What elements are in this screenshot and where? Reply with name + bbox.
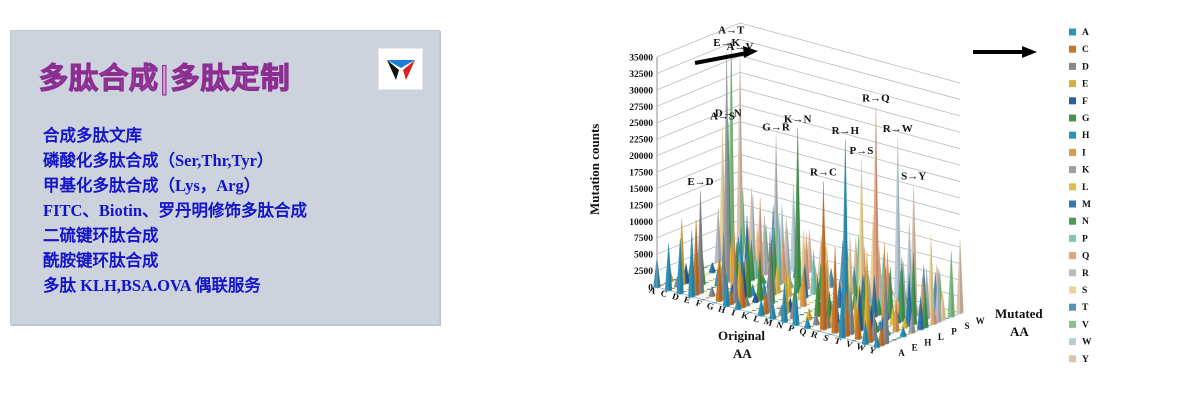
legend-swatch [1069,183,1076,190]
legend-swatch [1069,132,1076,139]
legend-item[interactable]: P [1069,234,1088,244]
service-list: 合成多肽文库 磷酸化多肽合成（Ser,Thr,Tyr） 甲基化多肽合成（Lys，… [43,123,423,298]
x-tick-label: L [752,313,761,324]
x-tick-label: Y [868,345,878,357]
legend-swatch [1069,149,1076,156]
legend-label: V [1082,320,1089,330]
x-tick-label: W [855,341,867,353]
z-tick-label: H [924,337,931,347]
legend-swatch [1069,46,1076,53]
peak-annotation: P→S [850,145,874,157]
legend-item[interactable]: I [1069,148,1086,158]
y-tick-label: 12500 [629,201,653,211]
gridline [657,39,960,99]
legend-label: E [1082,80,1088,90]
gridline [657,23,960,83]
legend-label: G [1082,114,1090,124]
logo-arrow-icon [384,54,418,84]
peak-annotation: R→C [810,167,837,179]
peak-annotation: K→N [784,113,812,125]
legend-label: K [1082,166,1090,176]
y-tick-label: 17500 [629,169,653,179]
legend-item[interactable]: Q [1069,252,1089,262]
y-tick-label: 20000 [629,152,653,162]
cone-bar [957,239,964,315]
z-tick-label: W [976,316,985,326]
peak-annotation: R→H [832,125,860,137]
page-title: 多肽合成|多肽定制 [39,55,291,97]
legend-swatch [1069,269,1076,276]
z-axis-title-line2: AA [1010,324,1029,339]
y-tick-label: 2500 [634,267,653,277]
legend-item[interactable]: T [1069,303,1089,313]
y-tick-label: 10000 [629,218,653,228]
x-axis-title-line2: AA [733,346,752,361]
x-tick-label: H [717,303,727,315]
legend-label: T [1082,303,1089,313]
x-tick-label: K [740,310,750,322]
legend-label: L [1082,183,1088,193]
z-tick-label: E [912,343,918,353]
y-axis-ticks: 3500032500300002750025000225002000017500… [629,54,653,294]
legend-item[interactable]: V [1069,320,1089,330]
legend-label: A [1082,28,1089,38]
legend-label: Y [1082,355,1089,365]
list-item: 磷酸化多肽合成（Ser,Thr,Tyr） [43,148,423,173]
legend-swatch [1069,235,1076,242]
z-tick-label: P [951,327,957,337]
legend-item[interactable]: A [1069,28,1089,38]
legend-label: W [1082,338,1092,348]
x-tick-label: S [822,332,830,343]
legend-item[interactable]: W [1069,338,1092,348]
trend-arrow-right [973,46,1037,58]
legend-label: M [1082,200,1091,210]
legend-label: D [1082,62,1089,72]
legend-item[interactable]: F [1069,97,1088,107]
legend-label: P [1082,234,1088,244]
legend-item[interactable]: N [1069,217,1089,227]
y-tick-label: 25000 [629,119,653,129]
legend-swatch [1069,287,1076,294]
legend-swatch [1069,338,1076,345]
z-tick-label: S [965,321,970,331]
legend-swatch [1069,115,1076,122]
legend-swatch [1069,321,1076,328]
legend-label: C [1082,45,1089,55]
legend-swatch [1069,201,1076,208]
legend-swatch [1069,252,1076,259]
list-item: 多肽 KLH,BSA.OVA 偶联服务 [43,273,423,298]
legend-label: F [1082,97,1088,107]
y-tick-label: 7500 [634,234,653,244]
x-tick-label: N [775,319,785,331]
y-axis-label: Mutation counts [587,124,602,215]
legend-label: S [1082,286,1087,296]
promo-panel: 多肽合成|多肽定制 合成多肽文库 磷酸化多肽合成（Ser,Thr,Tyr） 甲基… [10,30,440,325]
legend-label: I [1082,148,1086,158]
list-item: FITC、Biotin、罗丹明修饰多肽合成 [43,198,423,223]
peak-annotation: R→Q [862,93,890,105]
peak-annotation: R→W [883,123,913,135]
list-item: 二硫键环肽合成 [43,223,423,248]
legend-swatch [1069,355,1076,362]
x-tick-label: D [671,291,681,303]
peak-annotation: A→S [710,110,735,122]
legend-swatch [1069,166,1076,173]
x-tick-label: I [730,307,737,318]
legend-item[interactable]: Y [1069,355,1089,365]
peak-annotation: E→D [687,176,713,188]
chart-legend: ACDEFGHIKLMNPQRSTVWY [1069,28,1092,365]
list-item: 合成多肽文库 [43,123,423,148]
peak-annotation: S→Y [901,170,926,182]
legend-item[interactable]: S [1069,286,1087,296]
y-tick-label: 35000 [629,54,653,64]
legend-swatch [1069,29,1076,36]
company-logo [378,48,423,90]
legend-item[interactable]: L [1069,183,1088,193]
legend-label: H [1082,131,1090,141]
x-tick-label: P [787,323,796,334]
legend-item[interactable]: R [1069,269,1089,279]
x-tick-label: T [833,335,842,346]
chart-svg: 3500032500300002750025000225002000017500… [585,0,1200,400]
z-tick-label: A [898,348,905,358]
legend-label: N [1082,217,1089,227]
x-axis-title-line1: Original [718,328,765,343]
legend-item[interactable]: H [1069,131,1090,141]
x-tick-label: G [705,300,715,312]
peak-annotation: A→T [718,25,745,37]
z-tick-label: L [938,332,944,342]
legend-swatch [1069,80,1076,87]
list-item: 酰胺键环肽合成 [43,248,423,273]
y-tick-label: 32500 [629,70,653,80]
x-tick-label: R [810,329,820,341]
y-tick-label: 15000 [629,185,653,195]
legend-item[interactable]: C [1069,45,1089,55]
x-tick-label: C [659,288,668,300]
x-tick-label: Q [798,326,808,338]
gridline [657,56,960,116]
legend-item[interactable]: K [1069,166,1090,176]
mutation-counts-3d-chart: 3500032500300002750025000225002000017500… [585,0,1200,400]
y-tick-label: 27500 [629,103,653,113]
y-tick-label: 5000 [634,251,653,261]
legend-item[interactable]: G [1069,114,1090,124]
y-tick-label: 22500 [629,136,653,146]
legend-item[interactable]: D [1069,62,1089,72]
peak-annotation: A→V [727,41,754,53]
legend-swatch [1069,97,1076,104]
x-tick-label: M [763,316,775,328]
x-tick-label: V [845,338,855,350]
gridline [657,138,960,198]
legend-swatch [1069,218,1076,225]
x-tick-label: F [695,297,704,308]
legend-swatch [1069,63,1076,70]
x-tick-label: E [683,294,692,305]
legend-item[interactable]: E [1069,80,1088,90]
legend-item[interactable]: M [1069,200,1091,210]
y-tick-label: 30000 [629,86,653,96]
z-axis-title-line1: Mutated [995,306,1043,321]
legend-label: R [1082,269,1089,279]
legend-swatch [1069,304,1076,311]
legend-label: Q [1082,252,1089,262]
list-item: 甲基化多肽合成（Lys，Arg） [43,173,423,198]
